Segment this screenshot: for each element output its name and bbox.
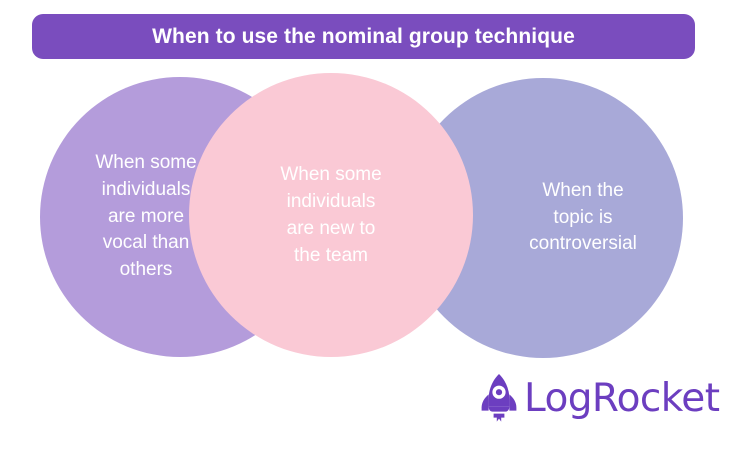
logo-wordmark: LogRocket [524, 379, 719, 418]
venn-circle-middle: When some individuals are new to the tea… [189, 73, 473, 357]
venn-circle-middle-label: When some individuals are new to the tea… [253, 162, 409, 270]
page-title: When to use the nominal group technique [152, 26, 575, 47]
rocket-icon [480, 373, 518, 423]
infographic-canvas: When to use the nominal group technique … [0, 0, 730, 459]
title-banner: When to use the nominal group technique [32, 14, 695, 59]
logrocket-logo: LogRocket [480, 370, 719, 426]
venn-circle-right-label: When the topic is controversial [490, 178, 677, 259]
